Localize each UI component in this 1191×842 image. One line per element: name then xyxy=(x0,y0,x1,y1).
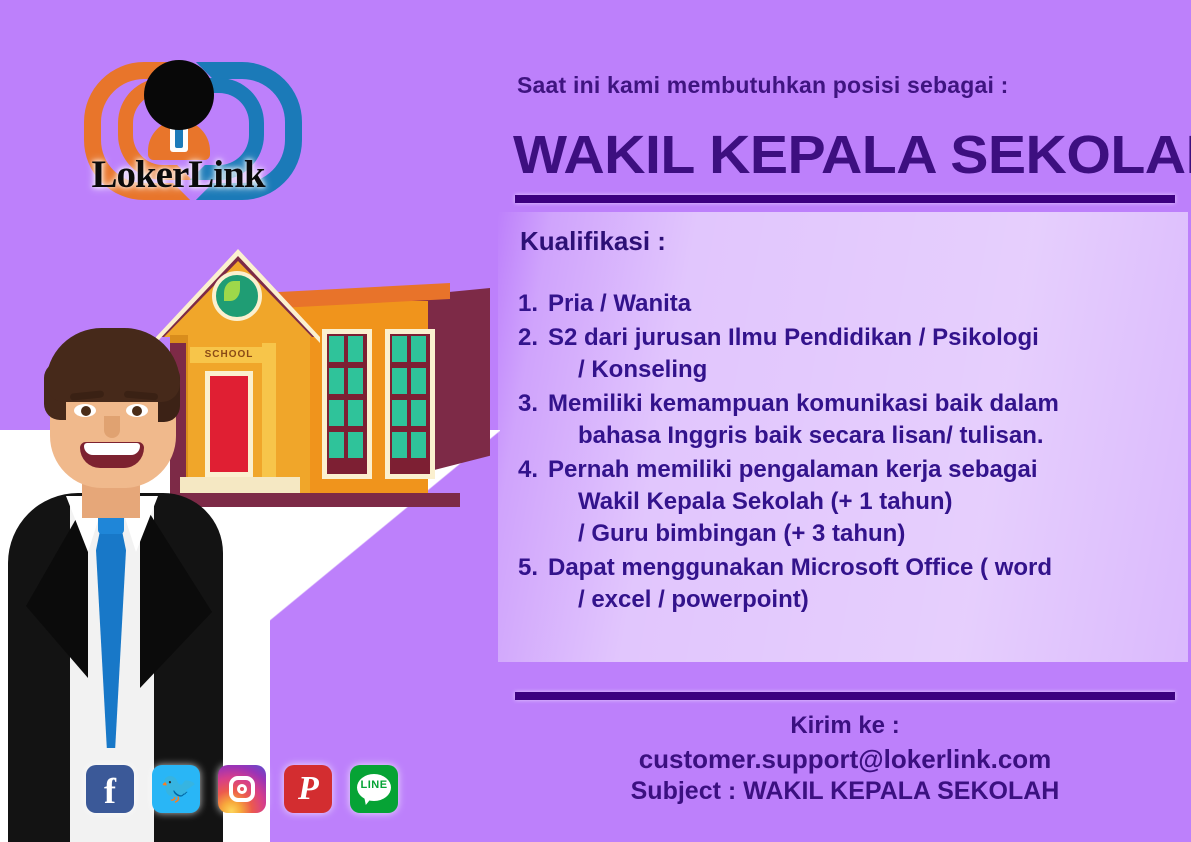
qualification-text: S2 dari jurusan Ilmu Pendidikan / Psikol… xyxy=(548,324,1039,351)
qualification-text-continued: / Guru bimbingan (+ 3 tahun) xyxy=(548,518,1158,550)
qualifications-heading: Kualifikasi : xyxy=(520,226,666,257)
job-title: WAKIL KEPALA SEKOLAH xyxy=(513,124,1191,186)
footer-contact: Kirim ke : customer.support@lokerlink.co… xyxy=(515,712,1175,806)
qualification-text: Memiliki kemampuan komunikasi baik dalam xyxy=(548,390,1059,417)
job-poster: LokerLink SCHOOL xyxy=(0,0,1191,842)
school-window-right xyxy=(385,329,435,479)
person-pupil-right xyxy=(132,406,142,416)
person-pupil-left xyxy=(81,406,91,416)
qualification-text: Pria / Wanita xyxy=(548,290,691,317)
qualification-text-continued: / excel / powerpoint) xyxy=(548,584,1158,616)
qualification-text-continued: bahasa Inggris baik secara lisan/ tulisa… xyxy=(548,420,1158,452)
kicker-text: Saat ini kami membutuhkan posisi sebagai… xyxy=(517,72,1009,99)
instagram-lens-glyph xyxy=(237,784,247,794)
divider-bottom xyxy=(515,692,1175,700)
line-icon[interactable]: LINE xyxy=(350,765,398,813)
divider-top xyxy=(515,195,1175,203)
qualification-number: 3. xyxy=(518,388,548,420)
qualification-text-continued: / Konseling xyxy=(548,354,1158,386)
line-label: LINE xyxy=(357,779,391,791)
qualification-number: 1. xyxy=(518,288,548,320)
qualification-item: 3.Memiliki kemampuan komunikasi baik dal… xyxy=(518,388,1158,452)
qualification-number: 2. xyxy=(518,322,548,354)
qualification-number: 5. xyxy=(518,552,548,584)
school-window-left xyxy=(322,329,372,479)
person-teeth xyxy=(84,443,140,455)
qualification-item: 2.S2 dari jurusan Ilmu Pendidikan / Psik… xyxy=(518,322,1158,386)
person-nose xyxy=(104,416,120,438)
qualification-text: Pernah memiliki pengalaman kerja sebagai xyxy=(548,456,1038,483)
businessman-illustration xyxy=(8,318,238,842)
send-to-label: Kirim ke : xyxy=(515,712,1175,740)
qualification-text-continued: Wakil Kepala Sekolah (+ 1 tahun) xyxy=(548,486,1158,518)
twitter-icon[interactable]: 🐦 xyxy=(152,765,200,813)
qualification-item: 4.Pernah memiliki pengalaman kerja sebag… xyxy=(518,454,1158,550)
social-links: f 🐦 P LINE xyxy=(86,765,398,813)
qualifications-list: 1.Pria / Wanita2.S2 dari jurusan Ilmu Pe… xyxy=(518,288,1158,618)
person-hair xyxy=(46,328,180,402)
lokerlink-logo: LokerLink xyxy=(78,52,278,197)
pinterest-glyph: P xyxy=(298,769,319,809)
facebook-icon[interactable]: f xyxy=(86,765,134,813)
facebook-glyph: f xyxy=(104,773,116,809)
email-subject: Subject : WAKIL KEPALA SEKOLAH xyxy=(515,777,1175,806)
qualification-item: 1.Pria / Wanita xyxy=(518,288,1158,320)
logo-wordmark: LokerLink xyxy=(78,152,278,197)
twitter-glyph: 🐦 xyxy=(160,772,197,806)
contact-email[interactable]: customer.support@lokerlink.com xyxy=(515,744,1175,775)
qualification-item: 5.Dapat menggunakan Microsoft Office ( w… xyxy=(518,552,1158,616)
instagram-icon[interactable] xyxy=(218,765,266,813)
qualification-number: 4. xyxy=(518,454,548,486)
pinterest-icon[interactable]: P xyxy=(284,765,332,813)
qualification-text: Dapat menggunakan Microsoft Office ( wor… xyxy=(548,554,1052,581)
logo-person-head-icon xyxy=(144,60,214,130)
